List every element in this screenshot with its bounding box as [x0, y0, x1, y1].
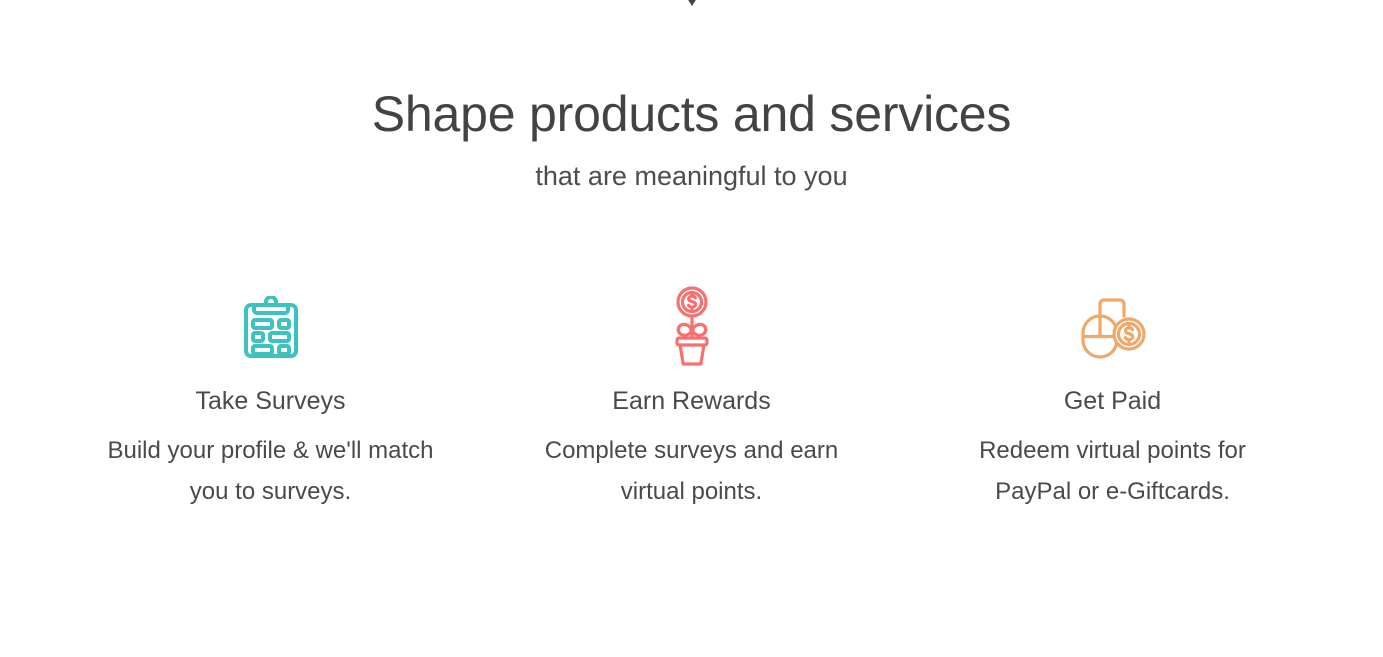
clipboard-survey-icon [242, 296, 300, 358]
feature-take-surveys: Take Surveys Build your profile & we'll … [60, 284, 481, 513]
feature-get-paid: Get Paid Redeem virtual points for PayPa… [902, 284, 1323, 513]
feature-description: Complete surveys and earn virtual points… [527, 430, 857, 513]
feature-title: Earn Rewards [612, 386, 770, 416]
money-plant-icon [667, 286, 717, 368]
features-section: Take Surveys Build your profile & we'll … [0, 284, 1383, 513]
hero-section: Shape products and services that are mea… [0, 0, 1383, 192]
mouse-payment-icon [1078, 294, 1148, 360]
feature-title: Get Paid [1064, 386, 1161, 416]
feature-icon-wrapper [242, 284, 300, 370]
scroll-down-cue[interactable] [0, 0, 1383, 14]
page-subtitle: that are meaningful to you [0, 160, 1383, 192]
feature-icon-wrapper [667, 284, 717, 370]
feature-icon-wrapper [1078, 284, 1148, 370]
feature-description: Redeem virtual points for PayPal or e-Gi… [948, 430, 1278, 513]
chevron-down-icon[interactable] [684, 0, 700, 10]
feature-description: Build your profile & we'll match you to … [106, 430, 436, 513]
feature-earn-rewards: Earn Rewards Complete surveys and earn v… [481, 284, 902, 513]
page-title: Shape products and services [0, 86, 1383, 144]
feature-title: Take Surveys [195, 386, 345, 416]
